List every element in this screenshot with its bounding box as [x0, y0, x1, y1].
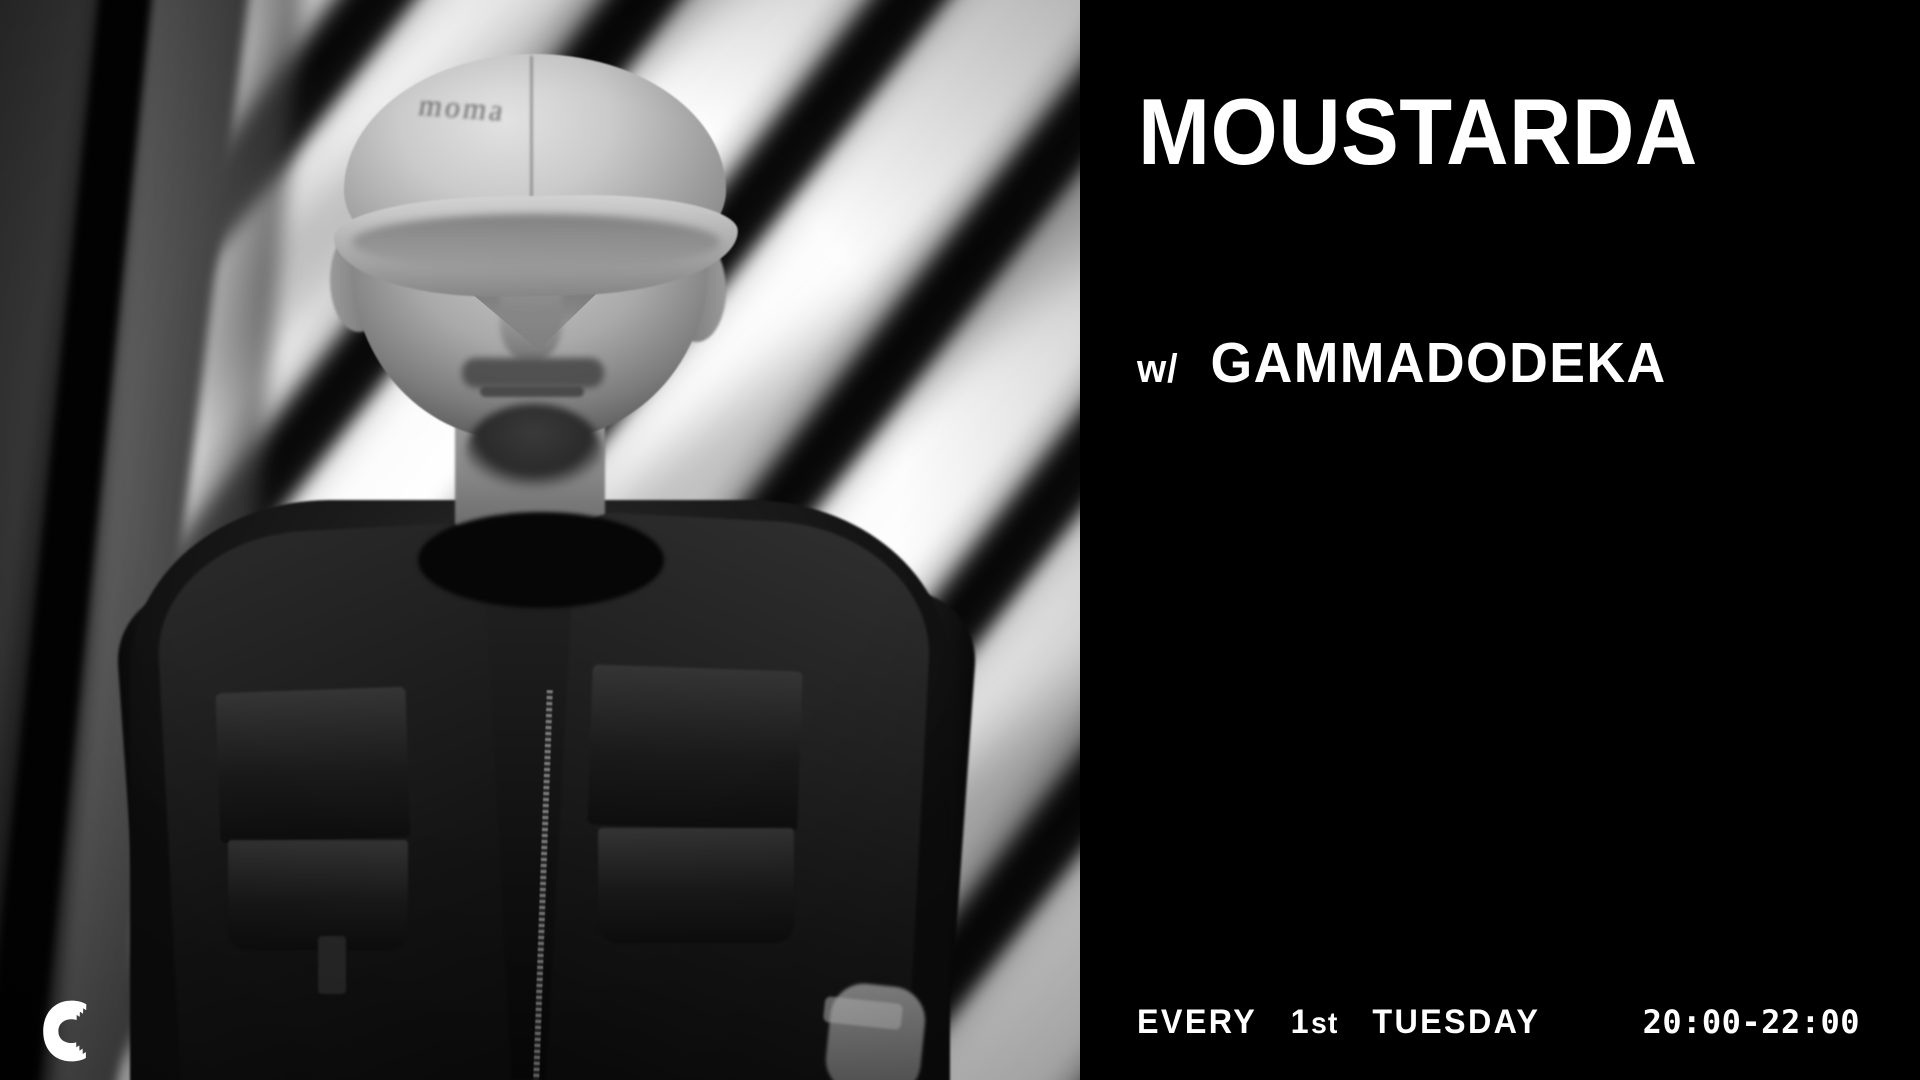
schedule-text: EVERY 1st TUESDAY: [1137, 1003, 1540, 1042]
footer-bar: EVERY 1st TUESDAY 20:00-22:00: [1137, 1003, 1860, 1042]
c-logo: [40, 1000, 98, 1062]
artist-photo: moma: [0, 0, 1080, 1080]
info-panel: MOUSTARDA w/ GAMMADODEKA EVERY 1st TUESD…: [1080, 0, 1920, 1080]
schedule-day: TUESDAY: [1372, 1003, 1540, 1041]
support-artist-name: GAMMADODEKA: [1211, 330, 1667, 396]
event-time: 20:00-22:00: [1643, 1003, 1860, 1041]
support-line: w/ GAMMADODEKA: [1137, 330, 1667, 396]
poster-canvas: moma MOUSTARDA w/ GAMMADODEKA EVERY 1st …: [0, 0, 1920, 1080]
support-prefix: w/: [1137, 347, 1179, 392]
schedule-ordinal: st: [1311, 1007, 1338, 1040]
schedule-number: 1: [1291, 1003, 1311, 1041]
photo-vignette: [0, 0, 1080, 1080]
schedule-prefix: EVERY: [1137, 1003, 1257, 1041]
artist-name: MOUSTARDA: [1138, 84, 1698, 180]
